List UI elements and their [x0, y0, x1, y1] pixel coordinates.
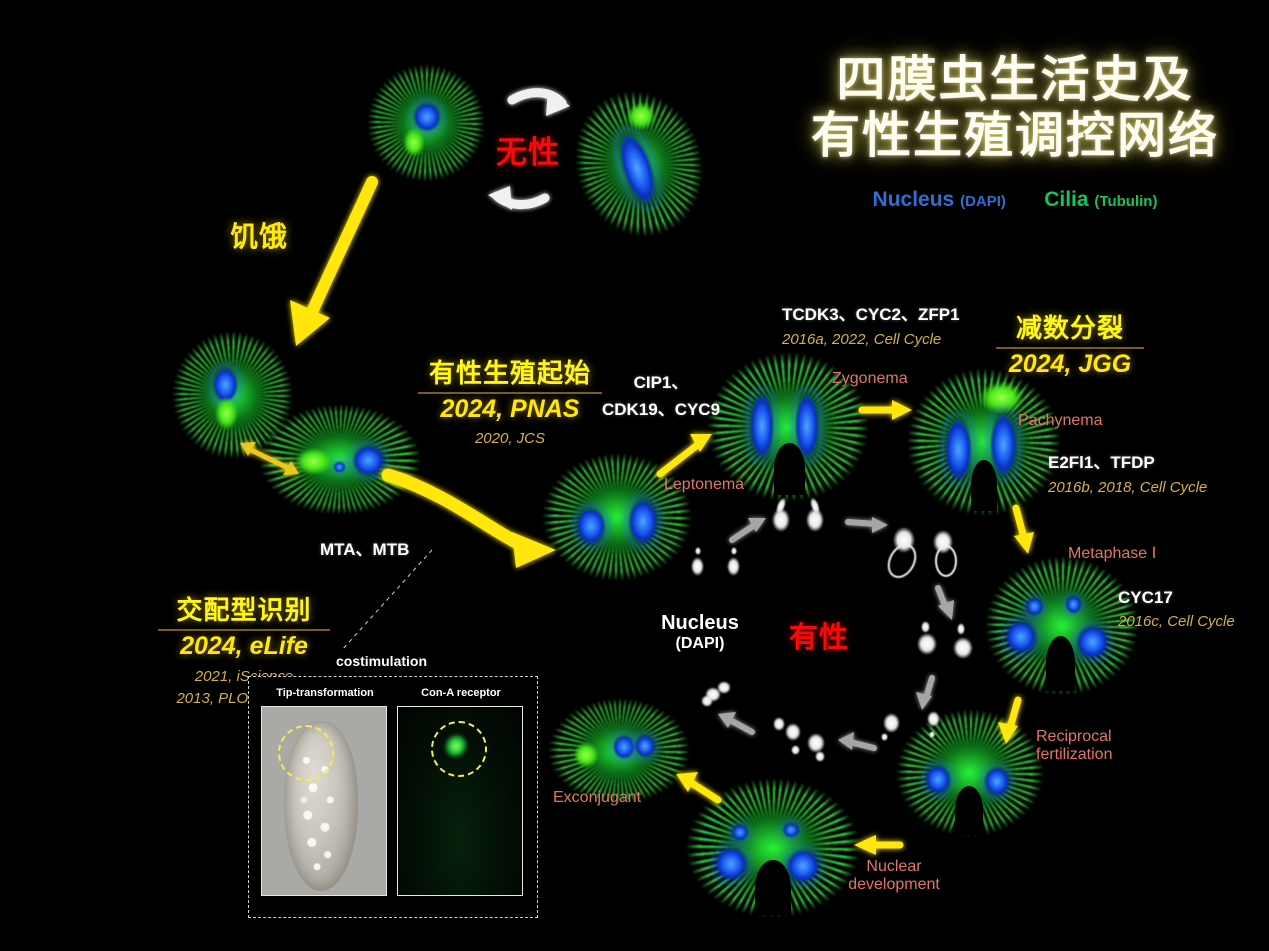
con-a-highlight-circle [431, 721, 487, 777]
nucleus-stain-left [944, 416, 973, 483]
nuclei-stage-1-a [691, 557, 704, 576]
macronucleus-stain [295, 448, 331, 475]
pair-notch [774, 443, 805, 495]
pair-notch [955, 786, 983, 834]
stage-label-zygonema: Zygonema [832, 370, 908, 388]
label-asexual: 无性 [496, 127, 560, 172]
stage-label-exconjugant: Exconjugant [553, 789, 641, 807]
arrow-to-leptonema [660, 434, 712, 474]
nuclei-stage-6-c [791, 745, 800, 755]
nuclei-stage-4-b-dot [957, 623, 965, 635]
gene-line-1: TCDK3、CYC2、ZFP1 [782, 300, 982, 325]
gene-line-1: CIP1、 [596, 368, 726, 393]
legend-nucleus: Nucleus (DAPI) [873, 188, 1012, 211]
cell-pachynema [918, 378, 1050, 506]
milestone-cn-label: 交配型识别 [158, 590, 330, 627]
nucleus-stain-left [575, 506, 606, 546]
nucleus-center-stain: (DAPI) [640, 635, 760, 653]
arrow-starvation [290, 182, 372, 346]
milestone-citation-1: 2020, JCS [418, 430, 602, 447]
micronucleus-dot [333, 461, 346, 472]
gene-citation-1: 2016a, 2022, Cell Cycle [782, 331, 982, 348]
nuclei-stage-6-b [807, 733, 825, 753]
nuclei-stage-4-a-dot [921, 621, 930, 633]
gene-group-cip1-cdk19-cyc9: CIP1、 CDK19、CYC9 [596, 368, 726, 420]
micronucleus-stain [403, 128, 425, 157]
inset-caption: costimulation [336, 653, 427, 669]
milestone-cn-label: 减数分裂 [996, 308, 1144, 345]
nucleus-stain-right [1075, 624, 1109, 660]
nuclei-stage-1-a-dot [695, 547, 701, 555]
nucleus-stain-a [612, 734, 636, 760]
costimulation-inset: Tip-transformation Con-A receptor [248, 676, 538, 918]
gene-group-cyc17: CYC17 2016c, Cell Cycle [1118, 588, 1269, 630]
gene-line-2: CDK19、CYC9 [596, 395, 726, 420]
arrow-to-nuclear-development [854, 835, 900, 855]
cell-exconjugant [558, 705, 680, 797]
legend-cilia: Cilia (Tubulin) [1044, 188, 1157, 211]
nuclei-stage-6-a2 [773, 717, 785, 731]
legend-nucleus-label: Nucleus [873, 188, 955, 211]
cilia-stain [270, 412, 410, 507]
cell-dividing [568, 86, 710, 241]
micronucleus-stain [215, 397, 238, 430]
inset-panel-con-a-receptor: Con-A receptor [397, 687, 525, 896]
milestone-journal: 2024, JGG [996, 350, 1144, 379]
tip-highlight-circle [278, 725, 334, 781]
costimulation-connector [342, 550, 432, 650]
legend: Nucleus (DAPI) Cilia (Tubulin) [800, 188, 1230, 212]
milestone-meiosis: 减数分裂 2024, JGG [996, 308, 1144, 379]
nuclei-stage-3-b-ring [935, 545, 957, 577]
inset-panel-title: Tip-transformation [261, 687, 389, 699]
arrow-to-metaphase [1014, 508, 1034, 554]
stage-label-leptonema: Leptonema [664, 476, 744, 494]
cell-metaphase-i [996, 566, 1128, 686]
nuclei-stage-3-a-ring [882, 539, 922, 583]
legend-cilia-label: Cilia [1044, 188, 1088, 211]
gene-group-mta-mtb: MTA、MTB [320, 535, 409, 560]
milestone-cn-label: 有性生殖起始 [418, 353, 602, 390]
legend-cilia-stain: (Tubulin) [1094, 193, 1157, 210]
nucleus-stain-b [634, 734, 656, 758]
stage-line-2: fertilization [1036, 746, 1196, 764]
nuclei-stage-5-b-dot [929, 731, 935, 738]
arrow-asexual-top [512, 90, 570, 116]
nucleus-stain-right [785, 848, 821, 884]
cell-conjugating-early [552, 462, 682, 572]
crescent-nucleus-left [749, 391, 776, 461]
title-line-2: 有性生殖调控网络 [800, 108, 1230, 164]
arrow-to-zygonema [862, 400, 912, 420]
stage-label-metaphase-i: Metaphase Ⅰ [1068, 543, 1156, 563]
diagram-canvas: 四膜虫生活史及 有性生殖调控网络 Nucleus (DAPI) Cilia (T… [0, 0, 1269, 951]
gene-citation-1: 2016c, Cell Cycle [1118, 613, 1269, 630]
nuclei-stage-1-b-dot [731, 547, 737, 555]
micronucleus-a [731, 824, 749, 841]
label-nucleus-center: Nucleus (DAPI) [640, 612, 760, 653]
nuclei-stage-5-a-dot [881, 733, 888, 741]
macronucleus-stain [573, 742, 600, 768]
label-starvation: 饥饿 [230, 215, 288, 255]
nuclei-stage-5-b [927, 711, 940, 727]
milestone-journal: 2024, eLife [158, 632, 330, 661]
pair-notch [1046, 636, 1075, 691]
gene-citation-1: 2016b, 2018, Cell Cycle [1048, 479, 1248, 496]
milestone-sexual-initiation: 有性生殖起始 2024, PNAS 2020, JCS [418, 353, 602, 447]
nucleus-stain-right [983, 766, 1011, 797]
stage-label-reciprocal-fertilization: Reciprocal fertilization [1036, 728, 1196, 764]
nucleus-stain-left [1004, 619, 1038, 655]
gene-line-1: E2Fl1、TFDP [1048, 448, 1248, 473]
gene-line-1: CYC17 [1118, 588, 1269, 608]
stage-line-2: development [826, 876, 962, 894]
nucleus-stain-right [627, 497, 658, 545]
milestone-rule [996, 347, 1144, 349]
title-line-1: 四膜虫生活史及 [800, 52, 1230, 108]
nucleus-center-name: Nucleus [661, 612, 739, 634]
nucleus-stain-left [713, 846, 749, 882]
nuclei-stage-6-a [785, 723, 801, 741]
arrow-asexual-bottom [488, 186, 545, 210]
inset-image-con-a-receptor [397, 706, 523, 896]
cell-vegetative-1 [375, 72, 477, 174]
nucleus-stain [351, 444, 386, 476]
label-sexual: 有性 [789, 614, 849, 656]
nuclei-stage-5-a [883, 713, 900, 733]
inset-image-tip-transformation [261, 706, 387, 896]
cilia-stain [552, 462, 682, 572]
inset-panel-title: Con-A receptor [397, 687, 525, 699]
stage-line-1: Nuclear [826, 858, 962, 876]
cell-starved-2 [270, 412, 410, 507]
nuclei-stage-7-c [701, 695, 713, 707]
stage-label-nuclear-development: Nuclear development [826, 858, 962, 894]
micronucleus-a [1025, 597, 1043, 616]
nuclei-stage-6-b2 [815, 751, 825, 762]
arrow-to-conjugation [388, 475, 556, 568]
stage-label-pachynema: Pachynema [1018, 412, 1103, 430]
gene-group-tcdk3-cyc2-zfp1: TCDK3、CYC2、ZFP1 2016a, 2022, Cell Cycle [782, 300, 982, 348]
stage-line-1: Reciprocal [1036, 728, 1196, 746]
nuclei-stage-7-b [717, 681, 731, 694]
milestone-rule [418, 392, 602, 394]
page-title: 四膜虫生活史及 有性生殖调控网络 [800, 52, 1230, 164]
inset-panel-tip-transformation: Tip-transformation [261, 687, 389, 896]
milestone-journal: 2024, PNAS [418, 395, 602, 424]
nuclei-stage-4-b [953, 637, 973, 659]
micronucleus-b [1065, 595, 1082, 614]
milestone-rule [158, 629, 330, 631]
gene-group-e2fl1-tfdp: E2Fl1、TFDP 2016b, 2018, Cell Cycle [1048, 448, 1248, 496]
legend-nucleus-stain: (DAPI) [960, 193, 1006, 210]
tip-green-stain [979, 381, 1024, 414]
nuclei-stage-1-b [727, 557, 740, 576]
pair-notch [755, 860, 791, 915]
nuclei-stage-4-a [917, 633, 937, 655]
